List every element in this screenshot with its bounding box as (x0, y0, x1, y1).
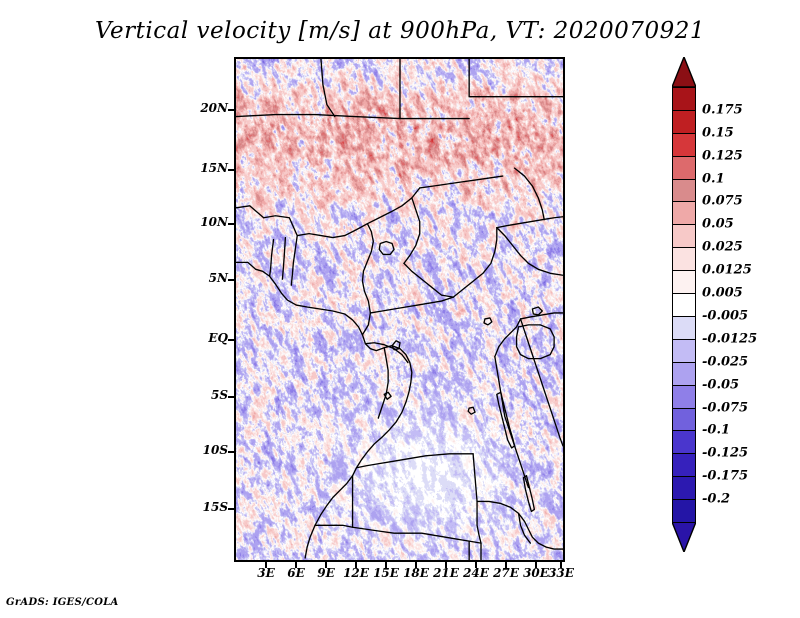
map-plot-area[interactable] (234, 57, 565, 562)
colorbar-swatch-13 (672, 385, 696, 409)
colorbar-label-5: 0.05 (702, 217, 734, 232)
colorbar-label-17: -0.2 (702, 492, 730, 507)
colorbar-swatch-16 (672, 453, 696, 477)
colorbar-swatch-12 (672, 362, 696, 386)
y-axis-label-eq: EQ (182, 331, 228, 345)
colorbar-swatch-1 (672, 110, 696, 134)
colorbar-swatch-9 (672, 293, 696, 317)
colorbar-label-3: 0.1 (702, 171, 725, 186)
colorbar-swatch-10 (672, 316, 696, 340)
colorbar-bottom-arrow (672, 522, 696, 552)
y-axis-tick (228, 279, 234, 281)
colorbar-swatch-2 (672, 133, 696, 157)
y-axis-label-15s: 15S (182, 500, 228, 514)
y-axis-tick (228, 169, 234, 171)
colorbar-swatch-0 (672, 87, 696, 111)
colorbar-swatch-4 (672, 179, 696, 203)
colorbar-label-6: 0.025 (702, 240, 743, 255)
colorbar-label-15: -0.125 (702, 446, 748, 461)
x-axis-label-33e: 33E (541, 566, 581, 580)
colorbar-top-arrow (672, 57, 696, 87)
colorbar-label-11: -0.025 (702, 354, 748, 369)
colorbar-swatch-7 (672, 247, 696, 271)
colorbar-swatch-6 (672, 224, 696, 248)
colorbar-swatch-15 (672, 430, 696, 454)
colorbar[interactable]: 0.1750.150.1250.10.0750.050.0250.01250.0… (670, 57, 800, 557)
colorbar-label-12: -0.05 (702, 377, 739, 392)
y-axis-label-10s: 10S (182, 443, 228, 457)
y-axis-tick (228, 223, 234, 225)
y-axis-tick (228, 109, 234, 111)
y-axis-label-20n: 20N (182, 101, 228, 115)
colorbar-label-2: 0.125 (702, 148, 743, 163)
colorbar-swatch-11 (672, 339, 696, 363)
y-axis-tick (228, 339, 234, 341)
y-axis-label-15n: 15N (182, 161, 228, 175)
y-axis-tick (228, 396, 234, 398)
colorbar-swatch-17 (672, 476, 696, 500)
y-axis-tick (228, 451, 234, 453)
colorbar-label-4: 0.075 (702, 194, 743, 209)
colorbar-swatch-3 (672, 156, 696, 180)
colorbar-swatch-14 (672, 408, 696, 432)
grads-figure: Vertical velocity [m/s] at 900hPa, VT: 2… (0, 0, 800, 618)
colorbar-label-16: -0.175 (702, 469, 748, 484)
colorbar-label-1: 0.15 (702, 125, 734, 140)
y-axis-label-5s: 5S (182, 388, 228, 402)
grads-credit: GrADS: IGES/COLA (6, 597, 119, 608)
map-borders-overlay (236, 59, 563, 560)
colorbar-label-7: 0.0125 (702, 263, 752, 278)
colorbar-swatch-5 (672, 201, 696, 225)
colorbar-label-8: 0.005 (702, 286, 743, 301)
colorbar-swatch-18 (672, 499, 696, 523)
colorbar-label-13: -0.075 (702, 400, 748, 415)
page-title: Vertical velocity [m/s] at 900hPa, VT: 2… (0, 18, 800, 44)
y-axis-tick (228, 508, 234, 510)
y-axis-label-5n: 5N (182, 271, 228, 285)
colorbar-label-0: 0.175 (702, 102, 743, 117)
colorbar-label-9: -0.005 (702, 308, 748, 323)
colorbar-swatch-8 (672, 270, 696, 294)
colorbar-label-10: -0.0125 (702, 331, 757, 346)
colorbar-label-14: -0.1 (702, 423, 730, 438)
y-axis-label-10n: 10N (182, 215, 228, 229)
